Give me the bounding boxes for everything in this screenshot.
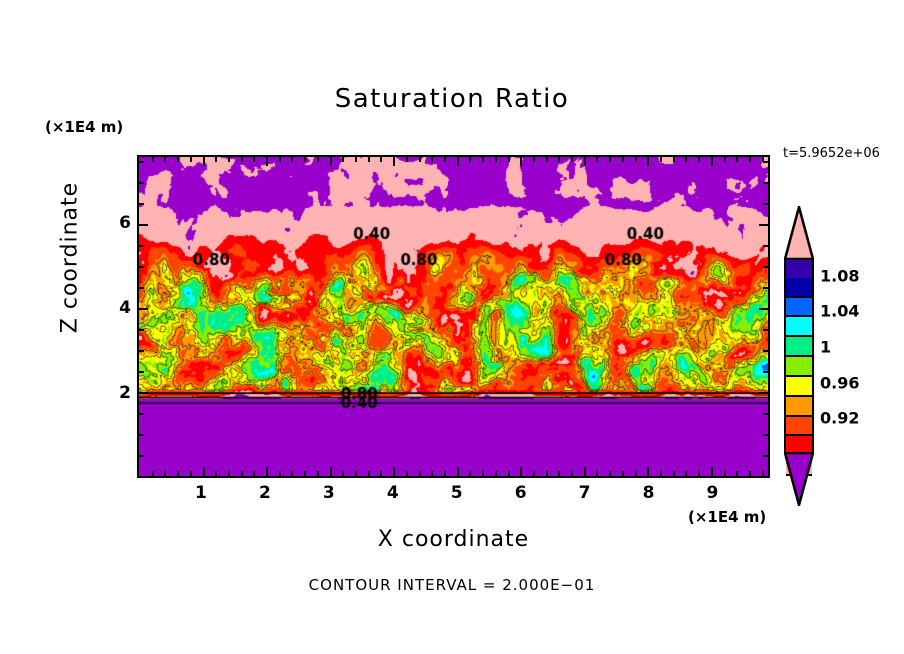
colorbar-tick-label: 1 <box>820 338 831 357</box>
axis-tick-mark <box>342 471 344 476</box>
axis-tick-mark <box>736 471 738 476</box>
y-tick-label: 6 <box>119 213 131 233</box>
axis-tick-mark <box>190 471 192 476</box>
axis-tick-mark <box>291 157 293 162</box>
axis-tick-mark <box>609 471 611 476</box>
axis-tick-mark <box>759 392 768 394</box>
colorbar-over-arrow <box>784 206 814 260</box>
y-tick-label: 4 <box>119 298 131 318</box>
axis-tick-mark <box>317 471 319 476</box>
axis-tick-mark <box>698 157 700 162</box>
axis-tick-mark <box>763 434 768 436</box>
axis-tick-mark <box>596 157 598 162</box>
axis-tick-mark <box>241 471 243 476</box>
colorbar[interactable]: 1.081.0410.960.92 <box>782 206 822 506</box>
axis-tick-mark <box>584 157 586 166</box>
axis-tick-mark <box>253 471 255 476</box>
axis-tick-mark <box>584 467 586 476</box>
axis-tick-mark <box>203 157 205 166</box>
axis-tick-mark <box>647 157 649 166</box>
axis-tick-mark <box>266 157 268 166</box>
axis-tick-mark <box>533 471 535 476</box>
axis-tick-mark <box>533 157 535 162</box>
x-tick-label: 4 <box>387 483 399 503</box>
axis-tick-mark <box>228 157 230 162</box>
axis-tick-mark <box>685 471 687 476</box>
axis-tick-mark <box>368 471 370 476</box>
y-axis-title: Z coordinate <box>58 168 83 348</box>
axis-tick-mark <box>763 245 768 247</box>
axis-tick-mark <box>759 224 768 226</box>
axis-tick-mark <box>393 157 395 166</box>
axis-tick-mark <box>749 471 751 476</box>
y-axis-unit-label: (×1E4 m) <box>45 118 123 136</box>
axis-tick-mark <box>571 471 573 476</box>
axis-tick-mark <box>469 471 471 476</box>
colorbar-tick-labels: 1.081.0410.960.92 <box>820 258 890 454</box>
colorbar-band <box>786 397 812 417</box>
axis-tick-mark <box>380 471 382 476</box>
axis-tick-mark <box>622 471 624 476</box>
axis-tick-mark <box>291 471 293 476</box>
axis-tick-mark <box>609 157 611 162</box>
axis-tick-mark <box>253 157 255 162</box>
axis-tick-mark <box>660 471 662 476</box>
axis-tick-mark <box>139 266 144 268</box>
axis-tick-mark <box>763 266 768 268</box>
x-tick-label: 7 <box>579 483 591 503</box>
axis-tick-mark <box>763 182 768 184</box>
colorbar-tick-label: 1.08 <box>820 266 859 285</box>
colorbar-tick-label: 0.92 <box>820 409 859 428</box>
axis-tick-mark <box>749 157 751 162</box>
axis-tick-mark <box>495 471 497 476</box>
axis-tick-mark <box>647 467 649 476</box>
axis-tick-mark <box>763 203 768 205</box>
axis-tick-mark <box>508 157 510 162</box>
page-title: Saturation Ratio <box>0 84 904 114</box>
axis-tick-mark <box>139 413 144 415</box>
axis-tick-mark <box>304 471 306 476</box>
axis-tick-mark <box>546 471 548 476</box>
axis-tick-mark <box>152 157 154 162</box>
contour-plot-area[interactable] <box>137 155 770 478</box>
axis-tick-mark <box>711 467 713 476</box>
axis-tick-mark <box>139 371 144 373</box>
axis-tick-mark <box>393 467 395 476</box>
x-axis-unit-label: (×1E4 m) <box>688 508 766 526</box>
colorbar-tick-label: 1.04 <box>820 302 859 321</box>
axis-tick-mark <box>139 161 144 163</box>
axis-tick-mark <box>763 371 768 373</box>
axis-tick-mark <box>279 157 281 162</box>
axis-tick-mark <box>520 467 522 476</box>
axis-tick-mark <box>469 157 471 162</box>
colorbar-under-arrow <box>784 452 814 506</box>
axis-tick-mark <box>406 471 408 476</box>
axis-tick-mark <box>177 157 179 162</box>
colorbar-band <box>786 317 812 337</box>
axis-tick-mark <box>330 157 332 166</box>
axis-tick-mark <box>457 157 459 166</box>
axis-tick-mark <box>139 329 144 331</box>
colorbar-band <box>786 260 812 278</box>
colorbar-band <box>786 278 812 298</box>
colorbar-band <box>786 417 812 437</box>
axis-tick-mark <box>508 471 510 476</box>
axis-tick-mark <box>203 467 205 476</box>
axis-tick-mark <box>228 471 230 476</box>
axis-tick-mark <box>685 157 687 162</box>
axis-tick-mark <box>368 157 370 162</box>
axis-tick-mark <box>139 287 144 289</box>
axis-tick-mark <box>596 471 598 476</box>
axis-tick-mark <box>520 157 522 166</box>
axis-tick-mark <box>139 182 144 184</box>
x-tick-label: 9 <box>707 483 719 503</box>
axis-tick-mark <box>380 157 382 162</box>
axis-tick-mark <box>457 467 459 476</box>
axis-tick-mark <box>698 471 700 476</box>
colorbar-band <box>786 298 812 318</box>
axis-tick-mark <box>495 157 497 162</box>
axis-tick-mark <box>736 157 738 162</box>
axis-tick-mark <box>152 471 154 476</box>
axis-tick-mark <box>673 157 675 162</box>
x-axis-tick-labels: 123456789 <box>137 483 770 505</box>
contour-field-canvas <box>139 157 768 476</box>
axis-tick-mark <box>763 350 768 352</box>
axis-tick-mark <box>177 471 179 476</box>
colorbar-band <box>786 357 812 377</box>
axis-tick-mark <box>215 157 217 162</box>
x-tick-label: 1 <box>195 483 207 503</box>
colorbar-bands <box>784 258 814 454</box>
time-stamp-label: t=5.9652e+06 <box>783 146 880 161</box>
axis-tick-mark <box>139 203 144 205</box>
axis-tick-mark <box>558 471 560 476</box>
axis-tick-mark <box>139 350 144 352</box>
axis-tick-mark <box>482 157 484 162</box>
axis-tick-mark <box>558 157 560 162</box>
contour-interval-caption: CONTOUR INTERVAL = 2.000E−01 <box>0 576 904 594</box>
x-tick-label: 8 <box>643 483 655 503</box>
axis-tick-mark <box>673 471 675 476</box>
axis-tick-mark <box>215 471 217 476</box>
axis-tick-mark <box>279 471 281 476</box>
axis-tick-mark <box>763 287 768 289</box>
axis-tick-mark <box>546 157 548 162</box>
axis-tick-mark <box>763 455 768 457</box>
axis-tick-mark <box>444 471 446 476</box>
axis-tick-mark <box>317 157 319 162</box>
axis-tick-mark <box>622 157 624 162</box>
axis-tick-mark <box>635 471 637 476</box>
axis-tick-mark <box>635 157 637 162</box>
x-tick-label: 3 <box>323 483 335 503</box>
axis-tick-mark <box>355 471 357 476</box>
axis-tick-mark <box>763 413 768 415</box>
axis-tick-mark <box>406 157 408 162</box>
axis-tick-mark <box>304 157 306 162</box>
axis-tick-mark <box>419 471 421 476</box>
colorbar-tick-label: 0.96 <box>820 373 859 392</box>
axis-tick-mark <box>763 329 768 331</box>
axis-tick-mark <box>444 157 446 162</box>
axis-tick-mark <box>330 467 332 476</box>
axis-tick-mark <box>571 157 573 162</box>
axis-tick-mark <box>190 157 192 162</box>
axis-tick-mark <box>711 157 713 166</box>
y-tick-label: 2 <box>119 383 131 403</box>
axis-tick-mark <box>266 467 268 476</box>
axis-tick-mark <box>355 157 357 162</box>
axis-tick-mark <box>419 157 421 162</box>
axis-tick-mark <box>342 157 344 162</box>
x-tick-label: 2 <box>259 483 271 503</box>
axis-tick-mark <box>759 308 768 310</box>
axis-tick-mark <box>139 455 144 457</box>
axis-tick-mark <box>241 157 243 162</box>
axis-tick-mark <box>139 308 148 310</box>
axis-tick-mark <box>139 224 148 226</box>
x-axis-title: X coordinate <box>137 527 770 552</box>
axis-tick-mark <box>660 157 662 162</box>
y-axis-tick-labels: 246 <box>95 155 131 478</box>
axis-tick-mark <box>164 157 166 162</box>
axis-tick-mark <box>431 157 433 162</box>
axis-tick-mark <box>762 471 764 476</box>
axis-tick-mark <box>724 471 726 476</box>
x-tick-label: 6 <box>515 483 527 503</box>
axis-tick-mark <box>139 392 148 394</box>
colorbar-band <box>786 377 812 397</box>
axis-tick-mark <box>482 471 484 476</box>
axis-tick-mark <box>431 471 433 476</box>
colorbar-band <box>786 337 812 357</box>
axis-tick-mark <box>763 161 768 163</box>
axis-tick-mark <box>724 157 726 162</box>
x-tick-label: 5 <box>451 483 463 503</box>
axis-tick-mark <box>164 471 166 476</box>
axis-tick-mark <box>139 245 144 247</box>
axis-tick-mark <box>139 434 144 436</box>
